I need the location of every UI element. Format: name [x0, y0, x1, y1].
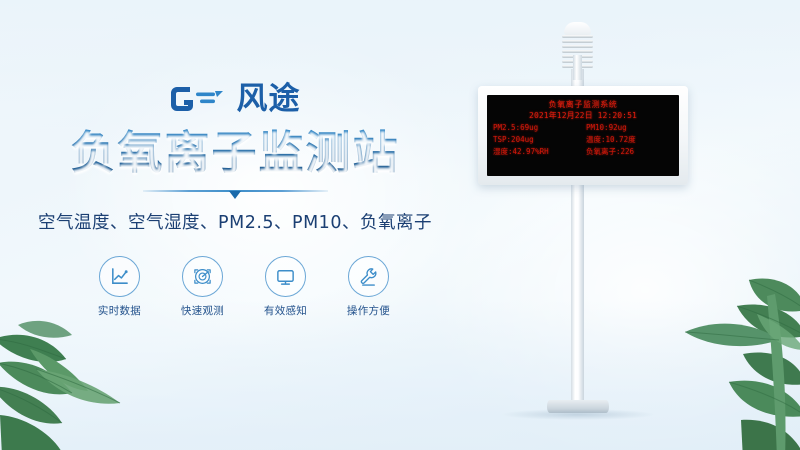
reading-negative-oxygen-ions: 负氧离子:226 [583, 147, 673, 158]
sensor-cap [564, 22, 591, 35]
feature-icon-wrap [182, 256, 223, 297]
hero-text-panel: 风途 负氧离子监测站 空气温度、空气湿度、PM2.5、PM10、负氧离子 [0, 78, 470, 318]
page-title: 负氧离子监测站 [0, 128, 470, 178]
reading-humidity: 湿度:42.97%RH [493, 147, 583, 158]
pole-ground-shadow [502, 409, 654, 420]
screen-readings-grid: PM2.5:69ug PM10:92ug TSP:204ug 温度:10.72度… [493, 123, 673, 158]
led-display-board: 负氧离子监测系统 2021年12月22日 12:20:51 PM2.5:69ug… [478, 86, 688, 185]
hero-subtitle: 空气温度、空气湿度、PM2.5、PM10、负氧离子 [0, 209, 470, 234]
feature-item-fast-observation: 快速观测 [172, 256, 234, 318]
reading-tsp: TSP:204ug [493, 135, 583, 146]
radar-observation-icon [192, 266, 213, 287]
reading-temperature: 温度:10.72度 [583, 135, 673, 146]
feature-item-realtime-data: 实时数据 [89, 256, 151, 318]
fengtu-logo-icon [170, 83, 228, 115]
reading-pm25: PM2.5:69ug [493, 123, 583, 134]
poster-canvas: 风途 负氧离子监测站 空气温度、空气湿度、PM2.5、PM10、负氧离子 [0, 0, 800, 450]
line-chart-icon [109, 266, 130, 287]
reading-pm10: PM10:92ug [583, 123, 673, 134]
feature-icon-wrap [265, 256, 306, 297]
screen-datetime: 2021年12月22日 12:20:51 [493, 111, 673, 121]
monitoring-station-illustration: 负氧离子监测系统 2021年12月22日 12:20:51 PM2.5:69ug… [430, 0, 800, 450]
feature-item-effective-sensing: 有效感知 [255, 256, 317, 318]
monitor-icon [275, 266, 296, 287]
feature-icon-wrap [348, 256, 389, 297]
feature-label: 快速观测 [172, 303, 234, 318]
feature-label: 实时数据 [89, 303, 151, 318]
brand-name: 风途 [237, 84, 301, 115]
brand-lockup: 风途 [0, 78, 470, 120]
screen-title: 负氧离子监测系统 [493, 100, 673, 110]
divider-caret-icon [229, 191, 241, 199]
feature-label: 有效感知 [255, 303, 317, 318]
led-screen: 负氧离子监测系统 2021年12月22日 12:20:51 PM2.5:69ug… [487, 95, 679, 176]
feature-label: 操作方便 [338, 303, 400, 318]
feature-icon-wrap [99, 256, 140, 297]
wrench-icon [358, 266, 379, 287]
feature-list: 实时数据 快 [0, 256, 470, 318]
title-divider [143, 187, 328, 199]
plant-leaves-icon [0, 311, 142, 450]
feature-item-easy-operation: 操作方便 [338, 256, 400, 318]
